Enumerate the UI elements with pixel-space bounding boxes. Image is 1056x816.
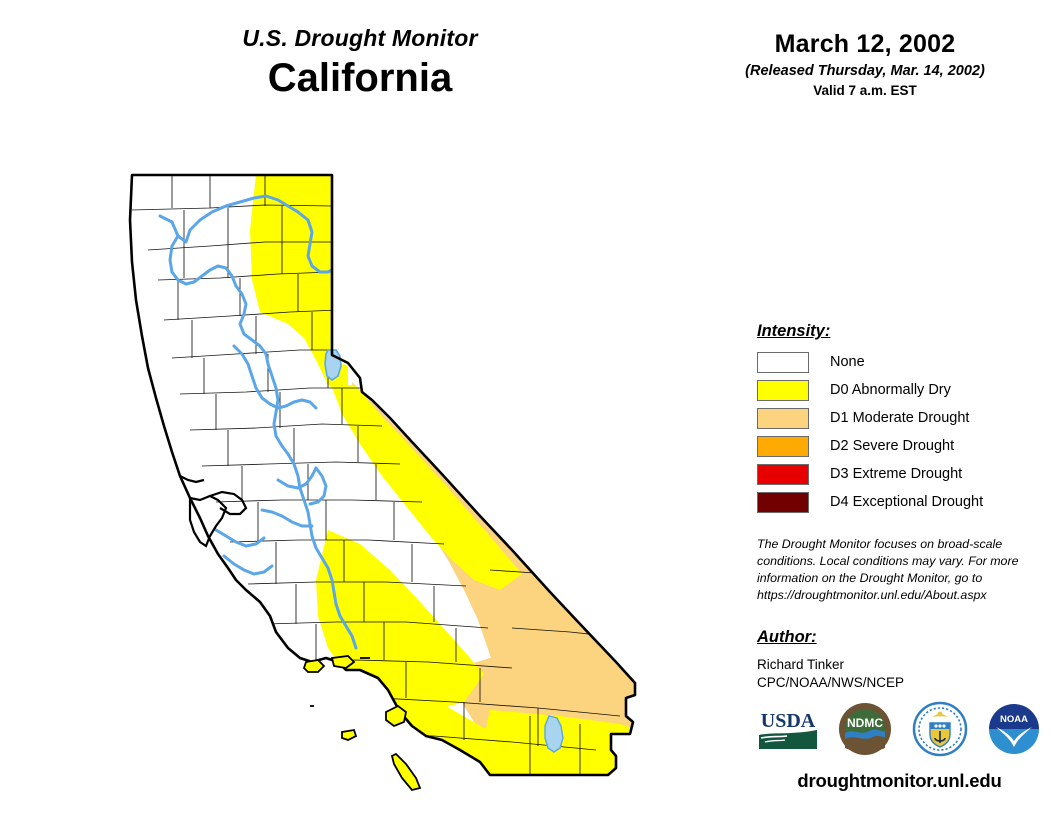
california-drought-map[interactable] [60,150,720,810]
usda-logo-text: USDA [761,710,816,732]
program-title: U.S. Drought Monitor [150,26,570,51]
legend-label-d0: D0 Abnormally Dry [830,382,951,398]
legend-item-d0[interactable]: D0 Abnormally Dry [757,378,1047,402]
legend-swatch-d1 [757,408,809,429]
release-date: (Released Thursday, Mar. 14, 2002) [690,63,1040,79]
author-name: Richard Tinker [757,656,1037,674]
title-block: U.S. Drought Monitor California [150,26,570,101]
author-affiliation: CPC/NOAA/NWS/NCEP [757,674,1037,692]
legend-item-d4[interactable]: D4 Exceptional Drought [757,490,1047,514]
legend-label-d2: D2 Severe Drought [830,438,954,454]
legend-label-d1: D1 Moderate Drought [830,410,969,426]
author-heading: Author: [757,628,1037,647]
legend-item-d3[interactable]: D3 Extreme Drought [757,462,1047,486]
legend-label-d3: D3 Extreme Drought [830,466,962,482]
date-block: March 12, 2002 (Released Thursday, Mar. … [690,30,1040,98]
agency-logo-row: USDA NDMC [757,700,1042,762]
usdc-seal-logo[interactable] [912,701,968,762]
legend-item-d2[interactable]: D2 Severe Drought [757,434,1047,458]
region-title: California [150,55,570,101]
legend-item-d1[interactable]: D1 Moderate Drought [757,406,1047,430]
valid-date: March 12, 2002 [690,30,1040,59]
legend-label-none: None [830,354,865,370]
author-block: Author: Richard Tinker CPC/NOAA/NWS/NCEP [757,628,1037,692]
site-url[interactable]: droughtmonitor.unl.edu [757,770,1042,792]
ndmc-logo[interactable]: NDMC [837,701,893,762]
legend-swatch-d2 [757,436,809,457]
noaa-logo-text: NOAA [1000,714,1028,725]
legend: Intensity: None D0 Abnormally Dry D1 Mod… [757,322,1047,518]
ndmc-logo-text: NDMC [847,716,883,730]
valid-time: Valid 7 a.m. EST [690,83,1040,98]
legend-swatch-d4 [757,492,809,513]
disclaimer-text: The Drought Monitor focuses on broad-sca… [757,536,1025,604]
legend-swatch-none [757,352,809,373]
legend-title: Intensity: [757,322,1047,341]
usda-logo[interactable]: USDA [757,705,819,758]
legend-swatch-d3 [757,464,809,485]
noaa-logo[interactable]: NOAA [986,701,1042,762]
legend-label-d4: D4 Exceptional Drought [830,494,983,510]
legend-swatch-d0 [757,380,809,401]
legend-item-none[interactable]: None [757,350,1047,374]
